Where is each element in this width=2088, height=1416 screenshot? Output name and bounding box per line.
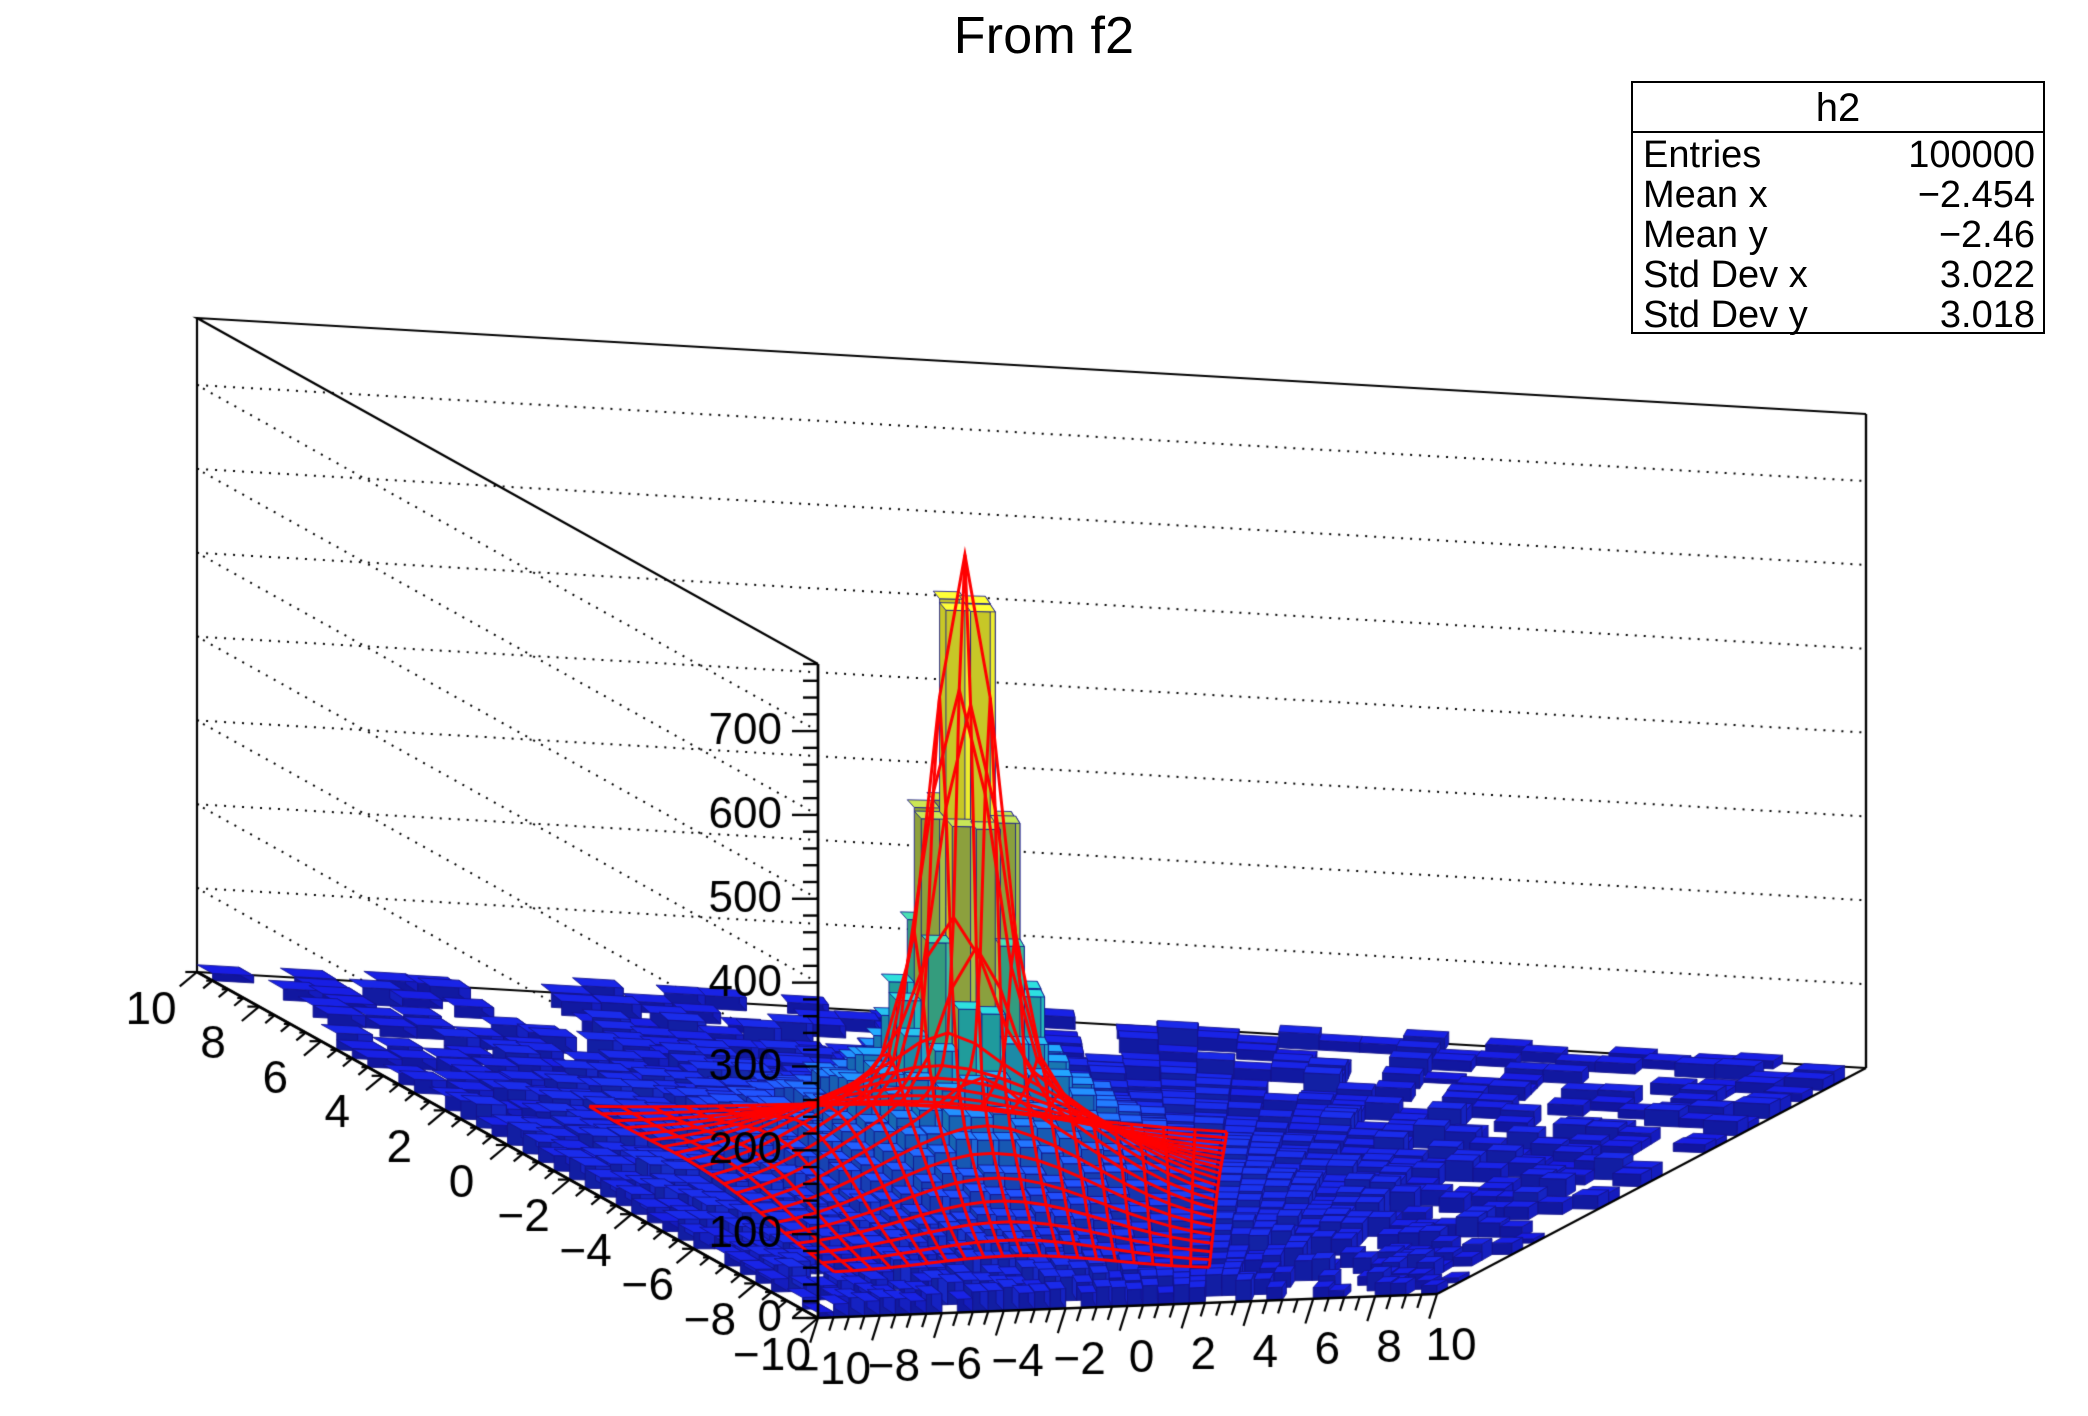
stats-row-mean-x: Mean x −2.454 <box>1633 175 2043 215</box>
stats-label-mean-x: Mean x <box>1643 175 1768 215</box>
stats-label-std-dev-x: Std Dev x <box>1643 255 1808 295</box>
stats-value-entries: 100000 <box>1908 135 2035 175</box>
stats-value-mean-y: −2.46 <box>1939 215 2035 255</box>
stats-row-entries: Entries 100000 <box>1633 135 2043 175</box>
stats-row-std-dev-x: Std Dev x 3.022 <box>1633 255 2043 295</box>
stats-row-std-dev-y: Std Dev y 3.018 <box>1633 295 2043 335</box>
stats-value-mean-x: −2.454 <box>1918 175 2035 215</box>
stats-row-mean-y: Mean y −2.46 <box>1633 215 2043 255</box>
stats-title: h2 <box>1633 83 2043 133</box>
stats-label-mean-y: Mean y <box>1643 215 1768 255</box>
stats-label-entries: Entries <box>1643 135 1761 175</box>
stats-label-std-dev-y: Std Dev y <box>1643 295 1808 335</box>
stats-rows: Entries 100000 Mean x −2.454 Mean y −2.4… <box>1633 133 2043 335</box>
statistics-box[interactable]: h2 Entries 100000 Mean x −2.454 Mean y −… <box>1631 81 2045 334</box>
stats-value-std-dev-y: 3.018 <box>1940 295 2035 335</box>
plot-canvas-root: From f2 h2 Entries 100000 Mean x −2.454 … <box>0 0 2088 1416</box>
page-title: From f2 <box>0 6 2088 66</box>
stats-value-std-dev-x: 3.022 <box>1940 255 2035 295</box>
